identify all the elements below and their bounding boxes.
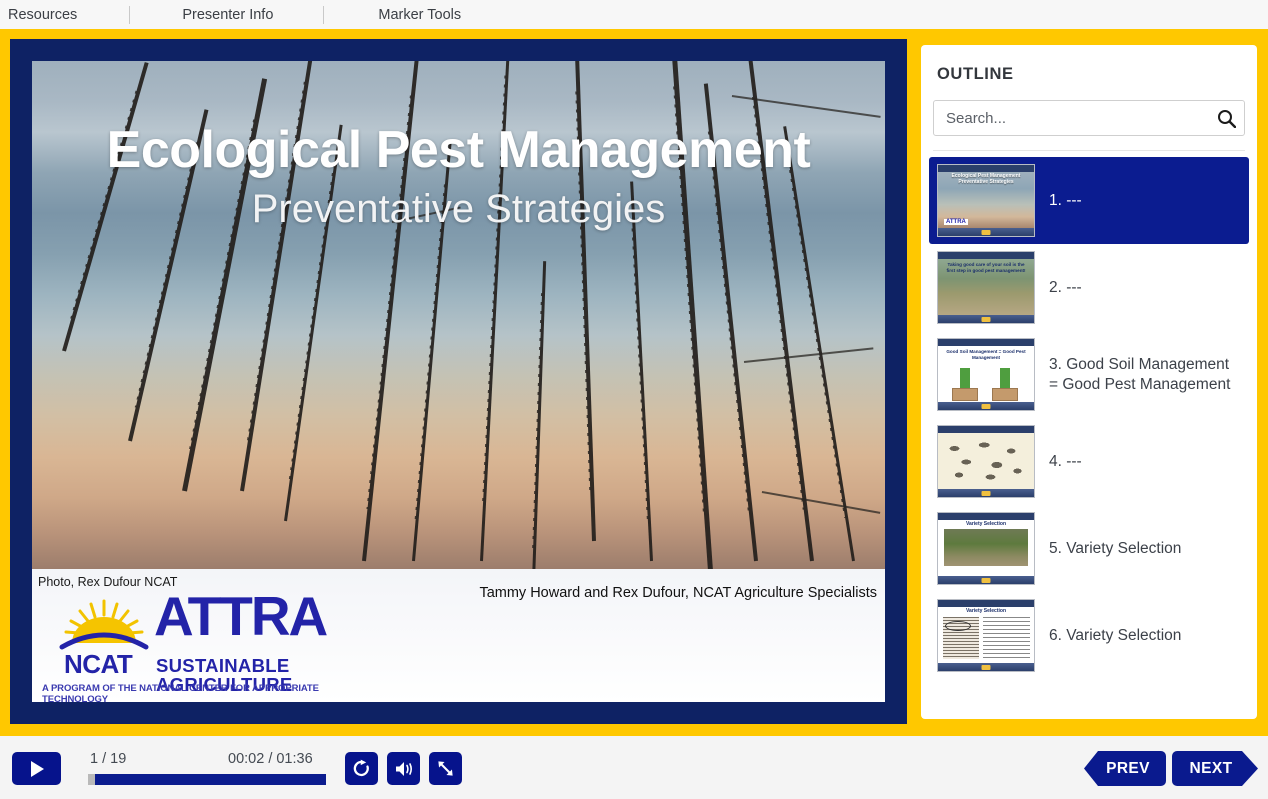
thumbnail-text: Good Soil Management = Good Pest Managem… (944, 349, 1028, 360)
outline-item-3[interactable]: Good Soil Management = Good Pest Managem… (929, 331, 1249, 418)
player-control-bar (0, 736, 1268, 799)
top-navigation-bar: Resources Presenter Info Marker Tools (0, 0, 1268, 29)
slide-stage: Ecological Pest Management Preventative … (10, 39, 907, 724)
page-title: Ecological Pest Management (32, 123, 885, 178)
outline-item-2[interactable]: Taking good care of your soil is the fir… (929, 244, 1249, 331)
attra-tagline: A PROGRAM OF THE NATIONAL CENTER FOR APP… (42, 683, 366, 702)
time-display: 00:02 / 01:36 (228, 751, 313, 767)
slide-thumbnail (937, 425, 1035, 498)
thumbnail-text: Taking good care of your soil is the fir… (943, 262, 1029, 273)
slide-thumbnail: Variety Selection (937, 512, 1035, 585)
attra-logo: ATTRA NCAT SUSTAINABLE AGRICULTURE A PRO… (36, 593, 366, 685)
outline-divider (933, 150, 1245, 151)
outline-heading: OUTLINE (937, 65, 1257, 84)
nav-item-resources[interactable]: Resources (0, 7, 91, 23)
slide-canvas[interactable]: Ecological Pest Management Preventative … (32, 61, 885, 702)
slide-counter: 1 / 19 (90, 751, 126, 767)
replay-button[interactable] (345, 752, 378, 785)
play-icon (29, 760, 45, 778)
outline-item-label: 2. --- (1049, 278, 1082, 297)
slide-thumbnail: Taking good care of your soil is the fir… (937, 251, 1035, 324)
play-button[interactable] (12, 752, 61, 785)
search-icon (1217, 109, 1236, 128)
outline-item-label: 6. Variety Selection (1049, 626, 1181, 645)
fullscreen-button[interactable] (429, 752, 462, 785)
outline-item-6[interactable]: Variety Selection 6. Variety Selection (929, 592, 1249, 679)
nav-item-presenter-info[interactable]: Presenter Info (168, 7, 287, 23)
progress-bar[interactable] (88, 774, 326, 785)
search-box[interactable] (933, 100, 1245, 136)
nav-divider (323, 6, 324, 24)
ncat-wordmark: NCAT (64, 651, 132, 677)
next-button[interactable]: NEXT (1172, 751, 1258, 786)
outline-item-label: 3. Good Soil Management = Good Pest Mana… (1049, 355, 1241, 394)
outline-item-1[interactable]: Ecological Pest Management Preventative … (929, 157, 1249, 244)
outline-item-label: 4. --- (1049, 452, 1082, 471)
volume-button[interactable] (387, 752, 420, 785)
slide-title-block: Ecological Pest Management Preventative … (32, 123, 885, 230)
replay-icon (352, 759, 371, 778)
outline-panel: OUTLINE Ecological Pest Management Preve… (921, 45, 1257, 719)
slide-thumbnail: Good Soil Management = Good Pest Managem… (937, 338, 1035, 411)
outline-list: Ecological Pest Management Preventative … (921, 157, 1257, 679)
nav-divider (129, 6, 130, 24)
thumbnail-text: Variety Selection (938, 521, 1034, 527)
prev-button[interactable]: PREV (1084, 751, 1166, 786)
nav-item-marker-tools[interactable]: Marker Tools (364, 7, 475, 23)
outline-item-5[interactable]: Variety Selection 5. Variety Selection (929, 505, 1249, 592)
slide-thumbnail: Ecological Pest Management Preventative … (937, 164, 1035, 237)
search-input[interactable] (934, 110, 1244, 127)
thumbnail-text: Variety Selection (938, 608, 1034, 614)
slide-thumbnail: Variety Selection (937, 599, 1035, 672)
sunrise-icon (58, 599, 150, 655)
thumbnail-text: Ecological Pest Management Preventative … (942, 174, 1030, 186)
outline-item-4[interactable]: 4. --- (929, 418, 1249, 505)
outline-item-label: 1. --- (1049, 191, 1082, 210)
presenter-byline: Tammy Howard and Rex Dufour, NCAT Agricu… (479, 585, 877, 601)
progress-fill (95, 774, 326, 785)
outline-item-label: 5. Variety Selection (1049, 539, 1181, 558)
fullscreen-icon (436, 759, 455, 778)
page-subtitle: Preventative Strategies (32, 188, 885, 230)
search-button[interactable] (1214, 106, 1238, 130)
attra-wordmark: ATTRA (154, 589, 326, 644)
volume-icon (394, 760, 414, 778)
progress-handle[interactable] (88, 774, 95, 785)
